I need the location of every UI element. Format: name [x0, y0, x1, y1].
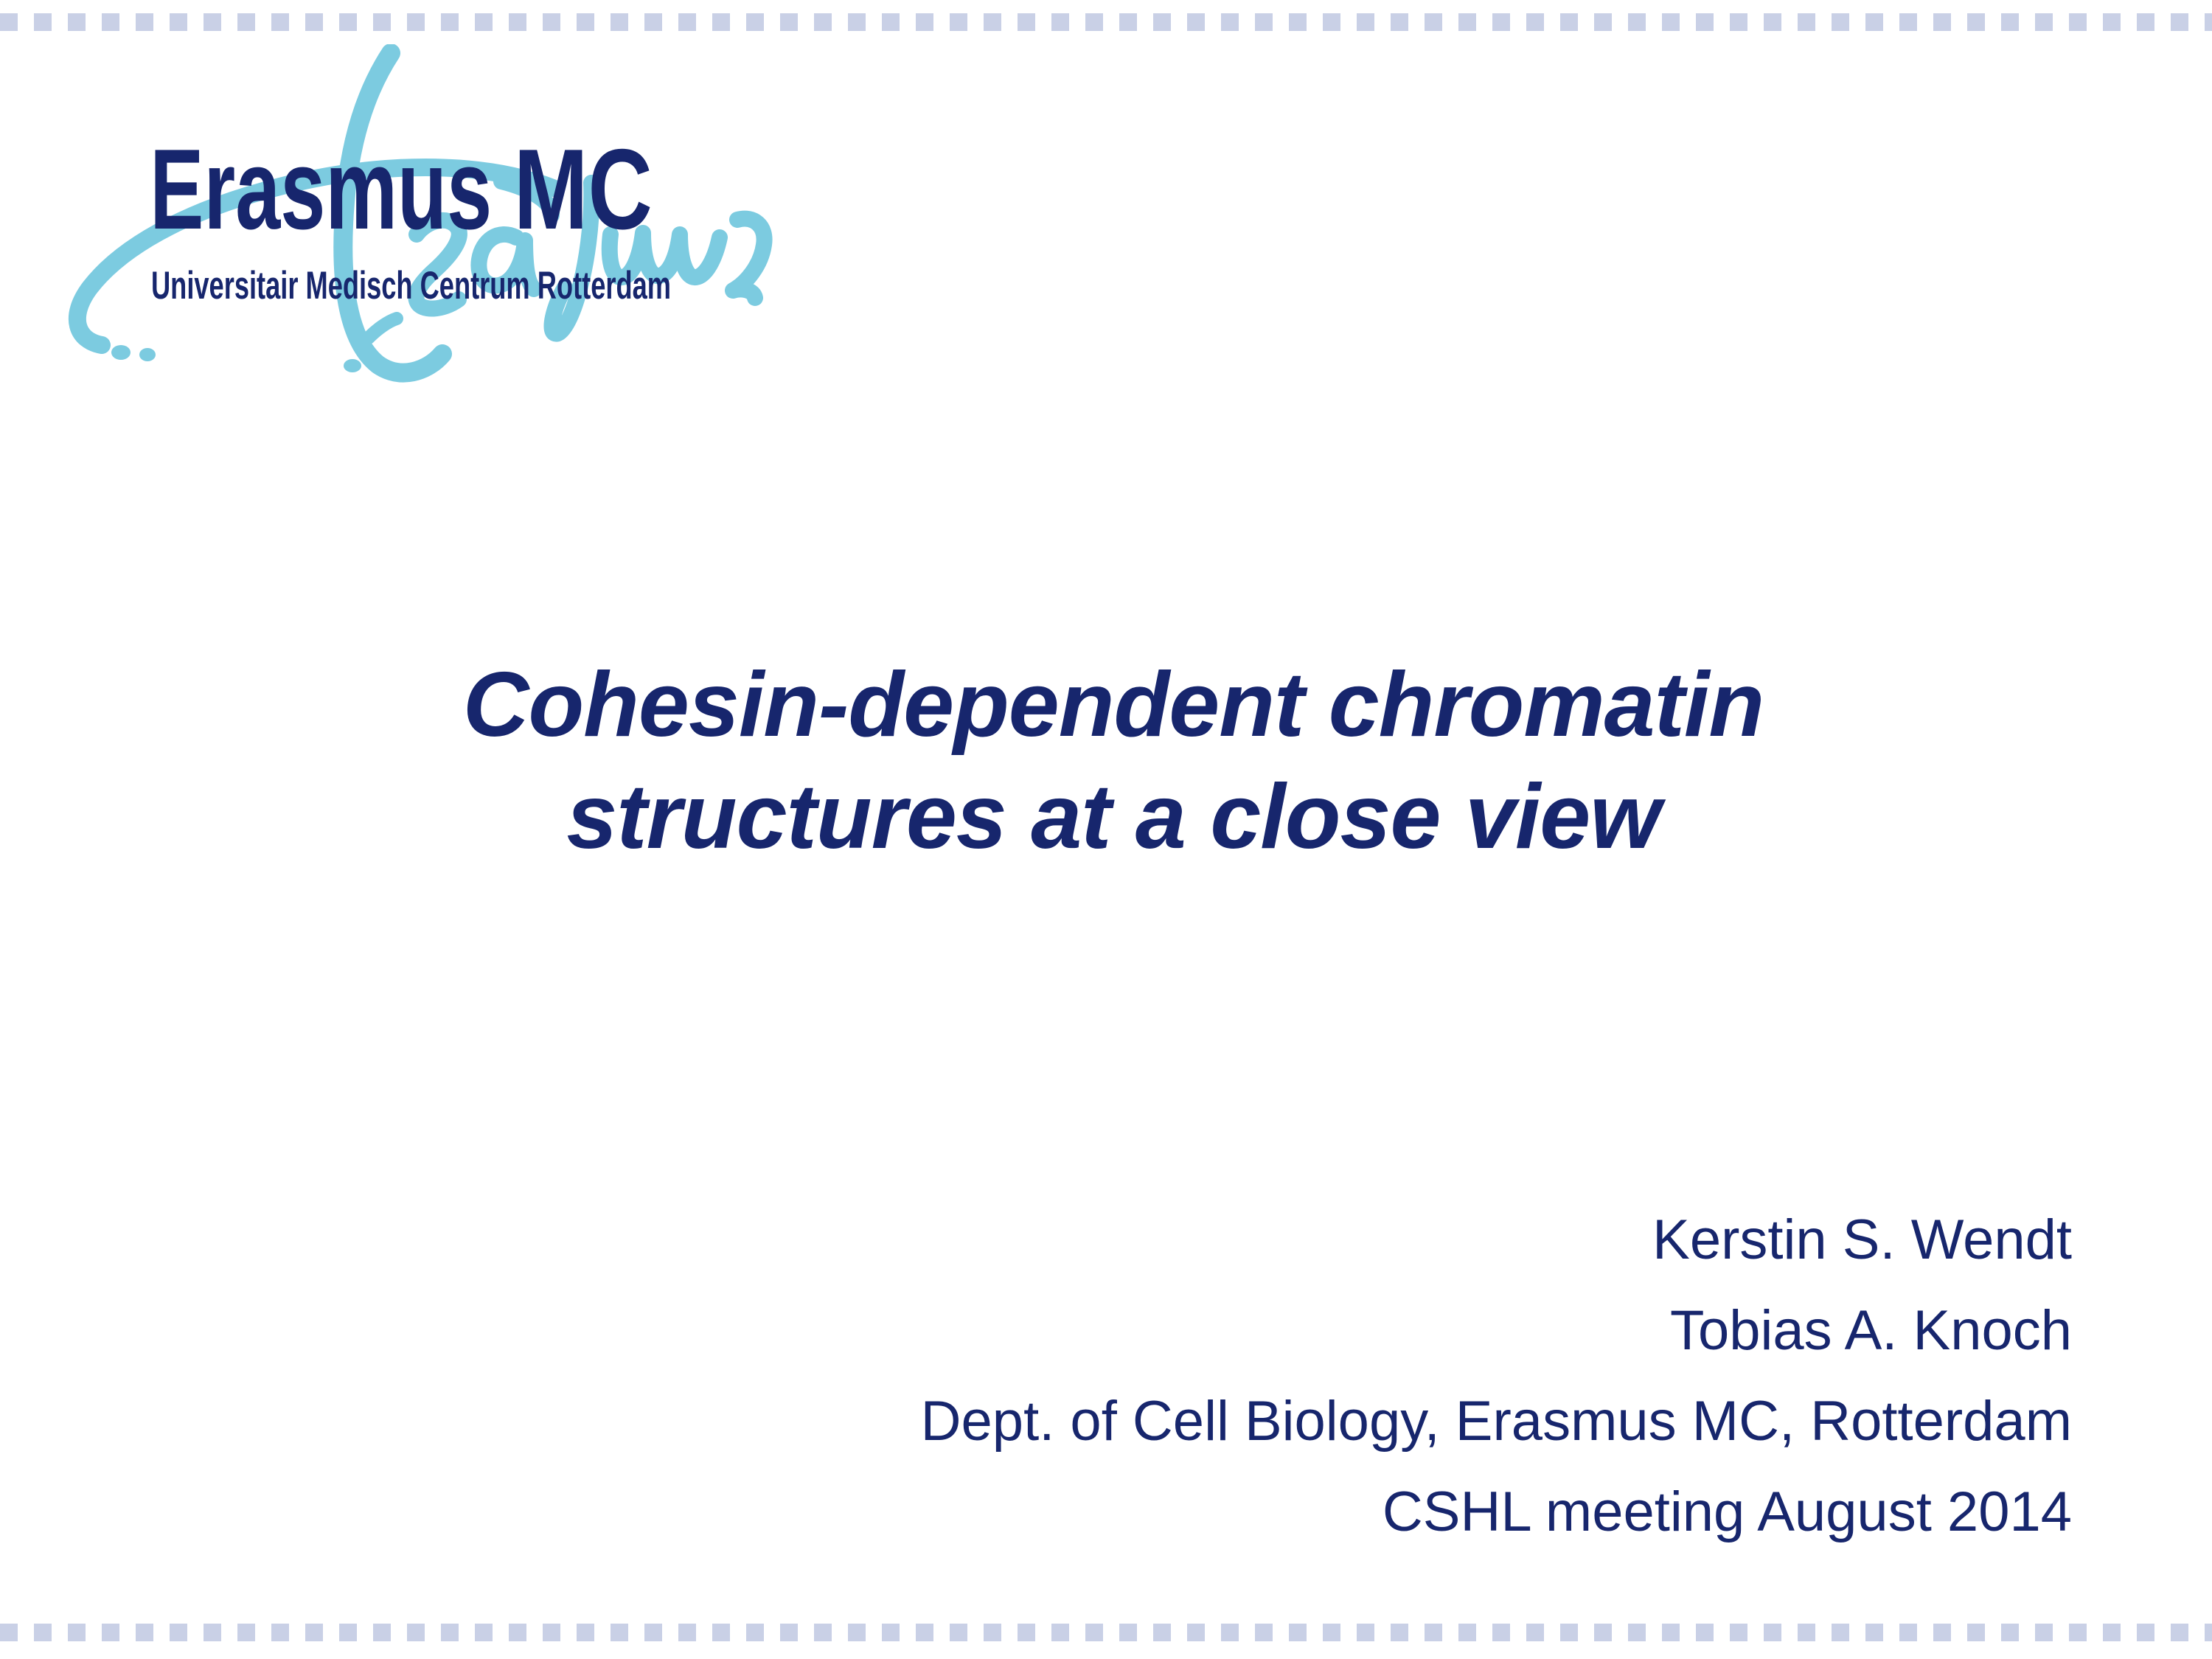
author-affiliation-block: Kerstin S. Wendt Tobias A. Knoch Dept. o…	[516, 1194, 2072, 1557]
logo-wordmark-primary: Erasmus	[150, 125, 492, 253]
author-name-primary: Kerstin S. Wendt	[516, 1194, 2072, 1285]
slide-title: Cohesin-dependent chromatin structures a…	[221, 649, 2006, 873]
meeting-venue-date: CSHL meeting August 2014	[516, 1467, 2072, 1557]
affiliation-line: Dept. of Cell Biology, Erasmus MC, Rotte…	[516, 1376, 2072, 1467]
dotted-rule-top-decoration	[0, 13, 2212, 31]
dotted-rule-bottom-decoration	[0, 1624, 2212, 1641]
slide-title-line-2: structures at a close view	[221, 761, 2006, 873]
logo-wordmark-secondary: MC	[514, 125, 653, 253]
slide-title-line-1: Cohesin-dependent chromatin	[221, 649, 2006, 761]
erasmus-mc-logo: Erasmus MC Universitair Medisch Centrum …	[44, 44, 826, 383]
title-slide: Erasmus MC Universitair Medisch Centrum …	[0, 0, 2212, 1659]
author-name-secondary: Tobias A. Knoch	[516, 1285, 2072, 1376]
logo-tagline: Universitair Medisch Centrum Rotterdam	[151, 264, 671, 307]
